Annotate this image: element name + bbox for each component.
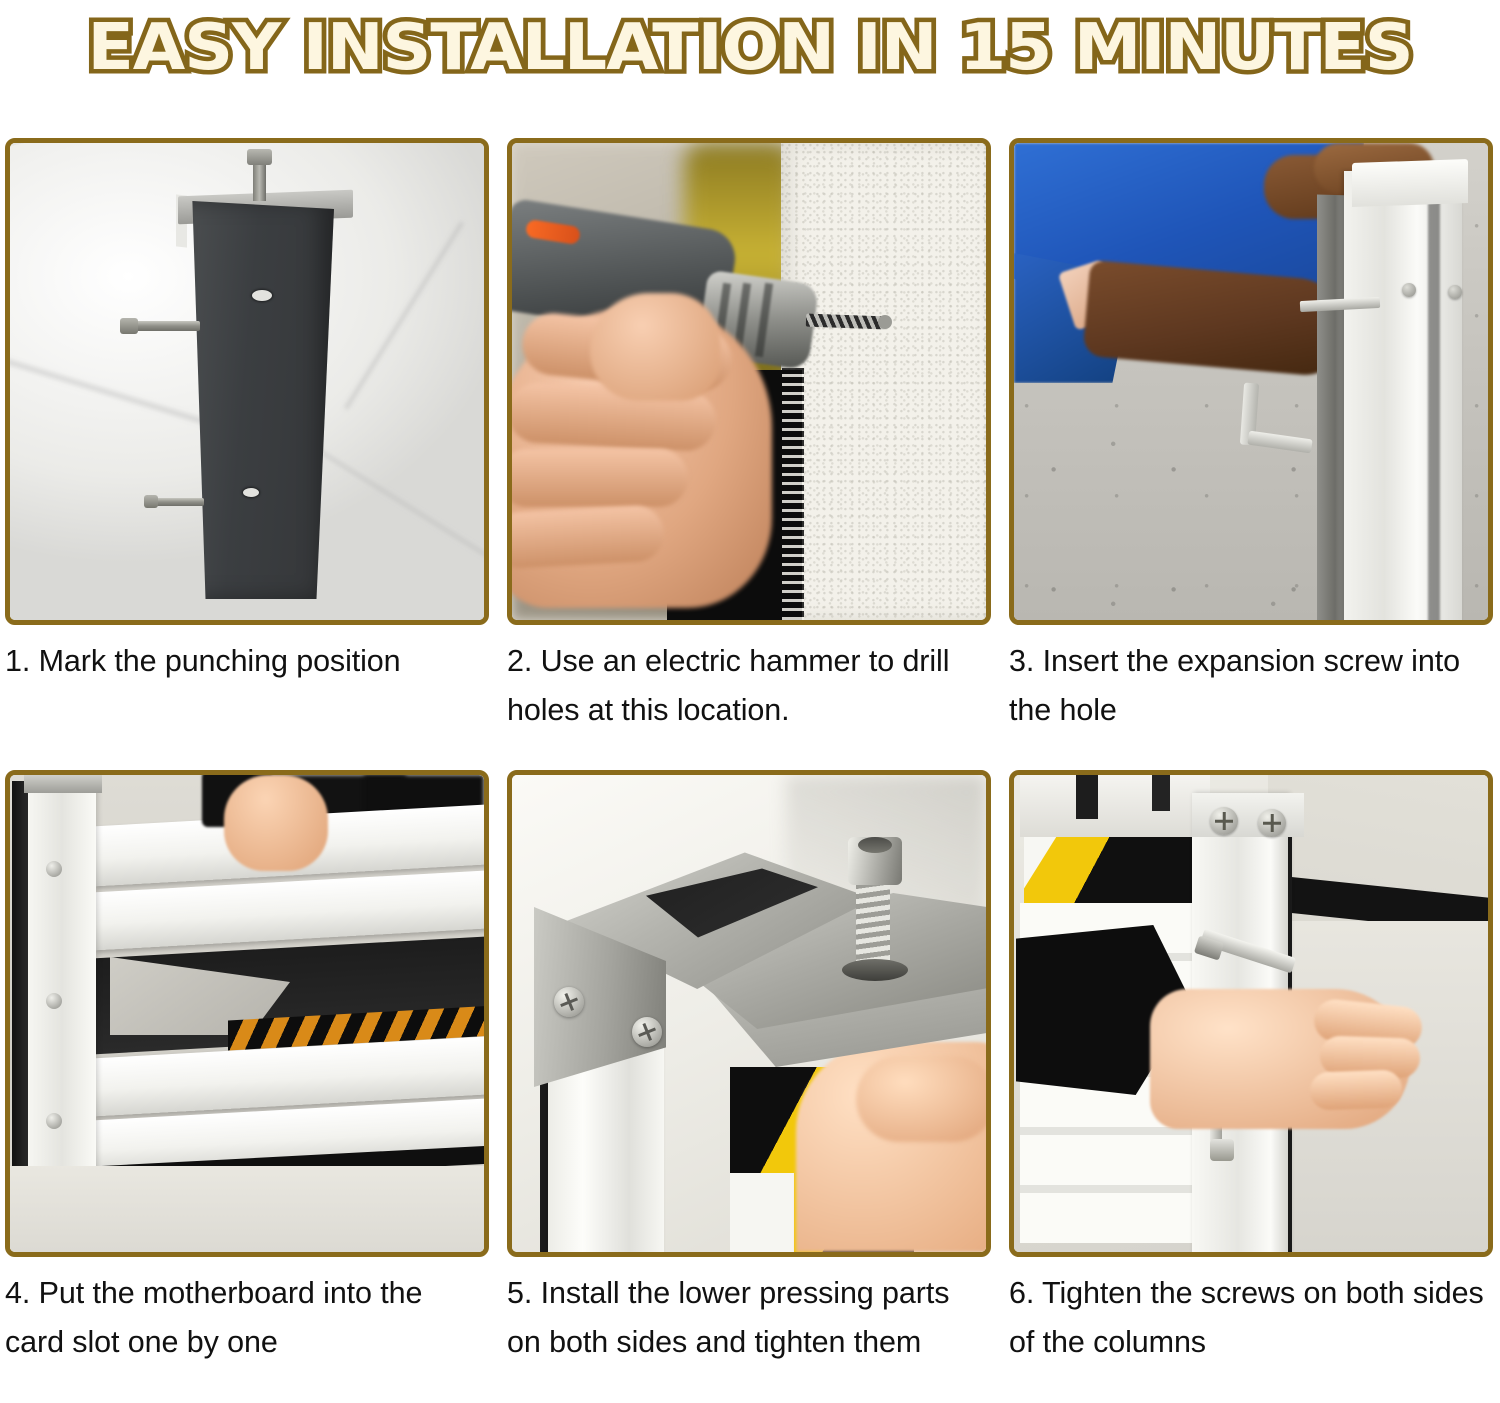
step-image-3 (1014, 143, 1488, 620)
drill-bit (806, 314, 886, 330)
finger (512, 449, 688, 507)
step-image-frame-6 (1009, 770, 1493, 1257)
drill-bit-tip (878, 315, 892, 329)
marking-hole-lower (243, 488, 259, 497)
phillips-screw (632, 1017, 662, 1047)
steps-row-1: 1. Mark the punching position (5, 138, 1495, 770)
step-caption-6: 6. Tighten the screws on both sides of t… (1009, 1257, 1493, 1397)
expansion-screw (1448, 285, 1462, 299)
post-screw (46, 861, 62, 877)
page-title-bar: EASY INSTALLATION IN 15 MINUTES (0, 0, 1500, 96)
expansion-screw (1402, 283, 1416, 297)
wall-edge (782, 368, 804, 620)
floor (10, 1166, 484, 1252)
installation-guide-page: EASY INSTALLATION IN 15 MINUTES (0, 0, 1500, 1403)
step-image-frame-2 (507, 138, 991, 625)
post-cap (24, 775, 102, 793)
steps-grid: 1. Mark the punching position (5, 138, 1495, 1397)
bolt-head (247, 149, 272, 165)
step-card-5: 5. Install the lower pressing parts on b… (507, 770, 991, 1397)
step-image-1 (10, 143, 484, 620)
step-caption-3: 3. Insert the expansion screw into the h… (1009, 625, 1493, 770)
textured-wall (781, 143, 986, 620)
alignment-pin-cap (120, 318, 138, 334)
column-shadow (1428, 179, 1440, 620)
thumb (590, 293, 720, 401)
page-title: EASY INSTALLATION IN 15 MINUTES (88, 16, 1413, 80)
white-aluminum-column (1344, 171, 1462, 620)
bolt-seat (842, 959, 908, 981)
step-image-2 (512, 143, 986, 620)
step-image-frame-3 (1009, 138, 1493, 625)
dark-metal-column (188, 201, 334, 599)
step-image-5 (512, 775, 986, 1252)
vertical-post (28, 781, 96, 1201)
column-screw (1258, 809, 1286, 837)
bolt-thread (856, 879, 890, 967)
post-screw (46, 993, 62, 1009)
column-cap (1192, 793, 1304, 837)
step-caption-4: 4. Put the motherboard into the card slo… (5, 1257, 489, 1397)
step-card-6: 6. Tighten the screws on both sides of t… (1009, 770, 1493, 1397)
marking-hole-upper (252, 290, 272, 301)
step-caption-5: 5. Install the lower pressing parts on b… (507, 1257, 991, 1397)
step-card-4: 4. Put the motherboard into the card slo… (5, 770, 489, 1397)
step-image-frame-4 (5, 770, 489, 1257)
step-image-frame-1 (5, 138, 489, 625)
dark-detail (1076, 775, 1098, 819)
steps-row-2: 4. Put the motherboard into the card slo… (5, 770, 1495, 1397)
column-screw (1210, 807, 1238, 835)
post-rail (12, 781, 28, 1201)
upper-assembly (1020, 775, 1210, 837)
step-image-frame-5 (507, 770, 991, 1257)
lower-fitting (1210, 1139, 1234, 1161)
post-screw (46, 1113, 62, 1129)
finger (856, 1056, 986, 1142)
step-image-6 (1014, 775, 1488, 1252)
finger (512, 505, 665, 570)
step-card-1: 1. Mark the punching position (5, 138, 489, 770)
step-card-3: 3. Insert the expansion screw into the h… (1009, 138, 1493, 770)
step-caption-2: 2. Use an electric hammer to drill holes… (507, 625, 991, 770)
hazard-stripe-white (730, 1173, 794, 1252)
column-cap (1352, 159, 1468, 207)
hex-bolt-socket (858, 837, 892, 853)
hand (224, 775, 328, 871)
step-card-2: 2. Use an electric hammer to drill holes… (507, 138, 991, 770)
finger (1309, 1069, 1402, 1110)
step-caption-1: 1. Mark the punching position (5, 625, 489, 770)
alignment-pin-cap (144, 495, 158, 508)
step-image-4 (10, 775, 484, 1252)
phillips-screw (554, 987, 584, 1017)
dark-detail (1152, 775, 1170, 811)
